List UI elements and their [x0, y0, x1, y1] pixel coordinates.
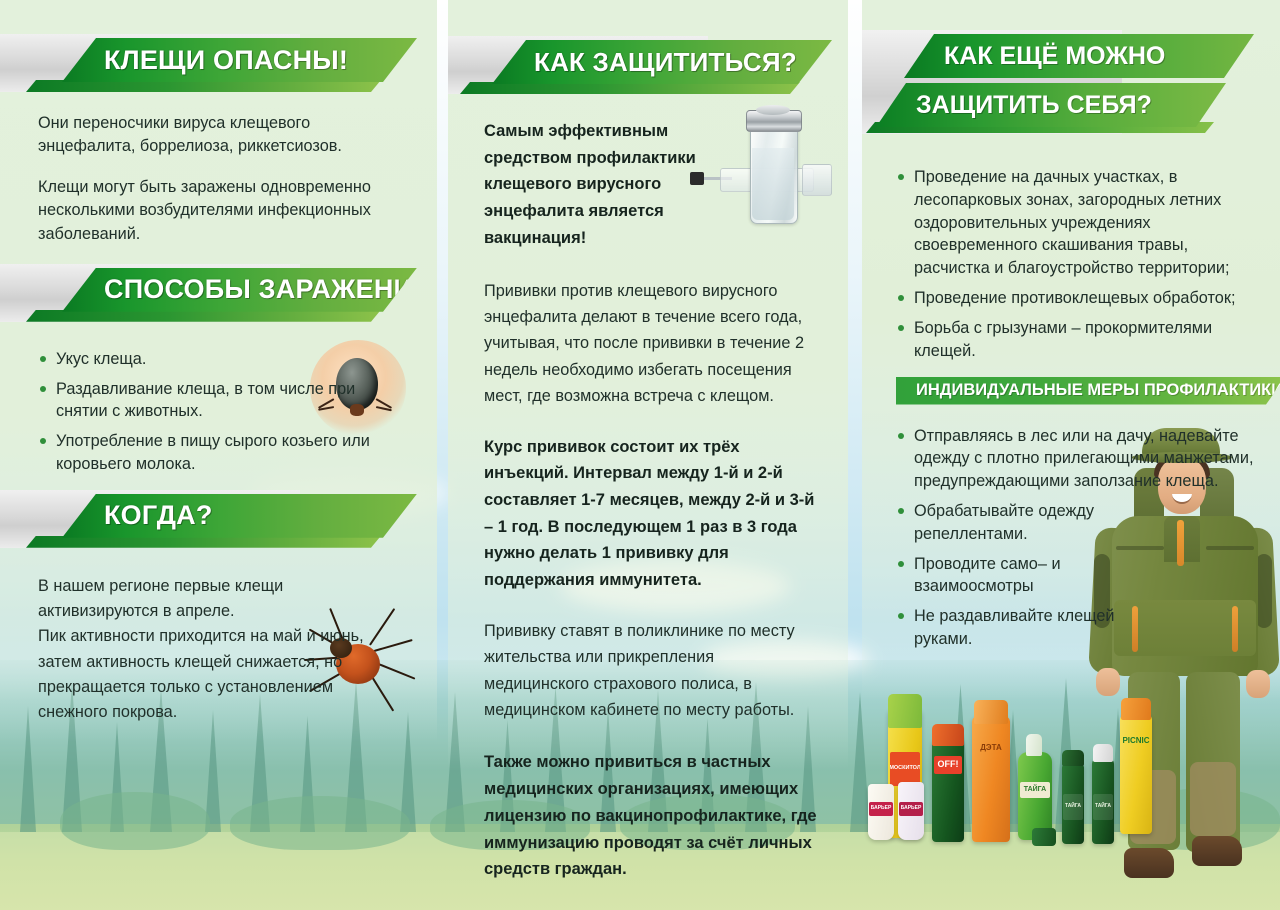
- tree: [850, 692, 870, 832]
- list-item: Употребление в пищу сырого козьего или к…: [38, 430, 407, 476]
- product-label: PICNIC: [1122, 734, 1150, 748]
- list-item: Проведение на дачных участках, в лесопар…: [896, 166, 1252, 280]
- paragraph: Пик активности приходится на май и июнь,…: [38, 624, 368, 725]
- tree: [950, 684, 971, 832]
- repellent-products-image: МОСКИТОЛ БАРЬЕР БАРЬЕР OFF! ДЭТА ТАЙГА Т…: [866, 690, 1156, 880]
- product-label: ТАЙГА: [1020, 782, 1050, 798]
- product-label: OFF!: [934, 756, 962, 774]
- tree: [1110, 708, 1126, 832]
- boot-right: [1192, 836, 1242, 866]
- section-heading-when: КОГДА?: [104, 500, 213, 531]
- list-item: Укус клеща.: [38, 348, 407, 371]
- general-measures-list: Проведение на дачных участках, в лесопар…: [896, 166, 1252, 363]
- repellent-tube: [898, 782, 924, 840]
- list-item: Борьба с грызунами – прокормителями клещ…: [896, 317, 1252, 363]
- section-heading-more-line2: ЗАЩИТИТЬ СЕБЯ?: [916, 91, 1152, 120]
- repellent-bottle: [972, 716, 1010, 842]
- tree: [1160, 688, 1180, 832]
- section-more-body: Проведение на дачных участках, в лесопар…: [862, 142, 1280, 651]
- product-label: БАРЬЕР: [869, 802, 893, 816]
- detached-cap: [1032, 828, 1056, 846]
- tree: [1055, 678, 1077, 832]
- list-item: Отправляясь в лес или на дачу, надевайте…: [896, 425, 1266, 493]
- bottle-cap: [1093, 744, 1113, 762]
- repellent-bottle: [888, 708, 922, 838]
- column-2-content: КАК ЗАЩИТИТЬСЯ? Самым эффективным средст…: [448, 0, 848, 901]
- subsection-heading-individual-measures: ИНДИВИДУАЛЬНЫЕ МЕРЫ ПРОФИЛАКТИКИ: [916, 381, 1280, 400]
- banner-how-to-protect: КАК ЗАЩИТИТЬСЯ?: [448, 36, 848, 94]
- section-heading-protect: КАК ЗАЩИТИТЬСЯ?: [534, 47, 797, 78]
- subbanner-bar: ИНДИВИДУАЛЬНЫЕ МЕРЫ ПРОФИЛАКТИКИ: [896, 377, 1280, 405]
- banner-bar: КЛЕЩИ ОПАСНЫ!: [62, 38, 417, 82]
- shrub: [60, 792, 210, 850]
- section-protect-body: Самым эффективным средством профилактики…: [448, 98, 848, 883]
- paragraph: Клещи могут быть заражены одновременно н…: [38, 176, 407, 245]
- repellent-bottle: [1018, 752, 1052, 840]
- paragraph: Прививки против клещевого вирусного энце…: [484, 278, 822, 410]
- banner-individual-measures: ИНДИВИДУАЛЬНЫЕ МЕРЫ ПРОФИЛАКТИКИ: [896, 377, 1260, 407]
- shrub: [1130, 788, 1280, 850]
- product-label: БАРЬЕР: [899, 802, 923, 816]
- bottle-cap: [974, 700, 1008, 724]
- boot-left: [1124, 848, 1174, 878]
- column-3-content: КАК ЕЩЁ МОЖНО ЗАЩИТИТЬ СЕБЯ? Проведение …: [862, 0, 1280, 658]
- paragraph: В нашем регионе первые клещи активизирую…: [38, 574, 407, 625]
- section-when-body: В нашем регионе первые клещи активизирую…: [0, 552, 437, 726]
- list-item: Не раздавливайте клещей руками.: [896, 605, 1129, 651]
- bottle-cap: [932, 724, 964, 746]
- banner-bar-line1: КАК ЕЩЁ МОЖНО: [904, 34, 1254, 78]
- bottle-cap: [1062, 750, 1084, 766]
- product-label: ТАЙГА: [1063, 794, 1083, 820]
- repellent-bottle: [1092, 758, 1114, 844]
- banner-ticks-are-dangerous: КЛЕЩИ ОПАСНЫ!: [0, 34, 437, 92]
- product-label: ТАЙГА: [1093, 794, 1113, 820]
- banner-ways-of-infection: СПОСОБЫ ЗАРАЖЕНИЯ: [0, 264, 437, 322]
- individual-measures-list: Отправляясь в лес или на дачу, надевайте…: [896, 415, 1260, 651]
- banner-bar: КОГДА?: [62, 494, 417, 538]
- column-1-content: КЛЕЩИ ОПАСНЫ! Они переносчики вируса кле…: [0, 0, 437, 725]
- paragraph-course-of-vaccination: Курс прививок состоит их трёх инъекций. …: [484, 434, 822, 594]
- list-item: Раздавливание клеща, в том числе при сня…: [38, 378, 407, 424]
- brochure-page: КЛЕЩИ ОПАСНЫ! Они переносчики вируса кле…: [0, 0, 1280, 910]
- paragraph: Они переносчики вируса клещевого энцефал…: [38, 112, 407, 158]
- banner-bar: КАК ЗАЩИТИТЬСЯ?: [492, 40, 832, 84]
- section-dangers-body: Они переносчики вируса клещевого энцефал…: [0, 96, 437, 246]
- repellent-bottle: [1120, 714, 1152, 834]
- paragraph-private-clinics: Также можно привиться в частных медицинс…: [484, 749, 822, 883]
- list-item: Проведение противоклещевых обработок;: [896, 287, 1252, 310]
- section-heading-more-line1: КАК ЕЩЁ МОЖНО: [944, 42, 1165, 71]
- banner-when: КОГДА?: [0, 490, 437, 548]
- section-heading-dangers: КЛЕЩИ ОПАСНЫ!: [104, 45, 348, 76]
- paragraph: Прививку ставят в поликлинике по месту ж…: [484, 618, 822, 724]
- tree: [905, 714, 920, 832]
- repellent-tube: [868, 784, 894, 840]
- shrub: [230, 796, 410, 850]
- banner-how-else-to-protect: КАК ЕЩЁ МОЖНО ЗАЩИТИТЬ СЕБЯ?: [862, 30, 1280, 136]
- bottle-cap: [1121, 698, 1151, 720]
- section-ways-body: Укус клеща. Раздавливание клеща, в том ч…: [0, 326, 437, 476]
- banner-bar: СПОСОБЫ ЗАРАЖЕНИЯ: [62, 268, 417, 312]
- ways-of-infection-list: Укус клеща. Раздавливание клеща, в том ч…: [38, 348, 407, 476]
- product-label: МОСКИТОЛ: [890, 752, 920, 786]
- section-heading-ways: СПОСОБЫ ЗАРАЖЕНИЯ: [104, 274, 433, 305]
- paragraph-vaccination-highlight: Самым эффективным средством профилактики…: [484, 118, 728, 252]
- list-item: Проводите само– и взаимоосмотры: [896, 553, 1119, 599]
- bottle-cap: [1026, 734, 1042, 756]
- repellent-bottle: [1062, 762, 1084, 844]
- repellent-bottle: [932, 738, 964, 842]
- tree: [1215, 704, 1232, 832]
- knee-patch-right: [1190, 762, 1236, 836]
- banner-bar-line2: ЗАЩИТИТЬ СЕБЯ?: [876, 83, 1226, 127]
- product-label: ДЭТА: [974, 740, 1008, 756]
- knee-patch-left: [1130, 770, 1176, 844]
- list-item: Обрабатывайте одежду репеллентами.: [896, 500, 1129, 546]
- tree: [1005, 710, 1021, 832]
